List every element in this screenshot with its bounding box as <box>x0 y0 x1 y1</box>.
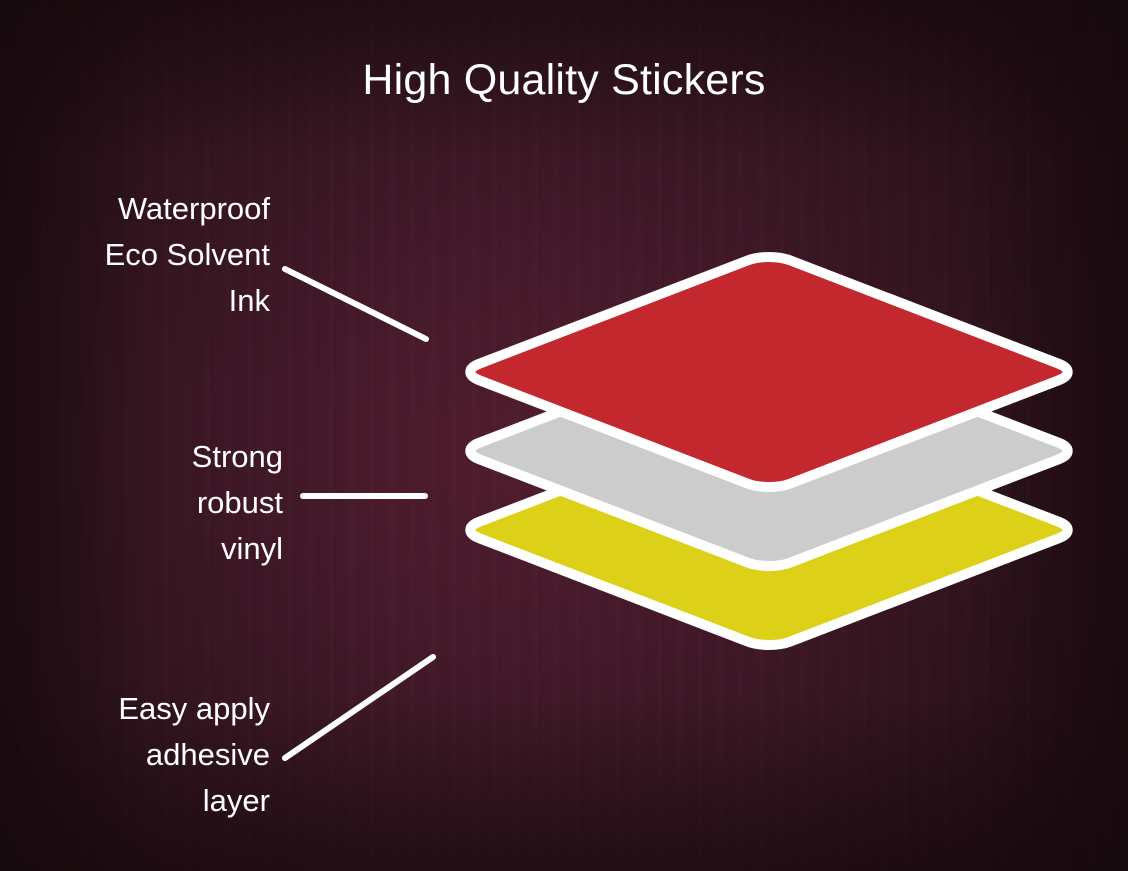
adhesive-leader-line <box>285 657 433 758</box>
ink-leader-line <box>285 269 426 339</box>
label-waterproof-eco-solvent-ink: Waterproof Eco Solvent Ink <box>105 186 270 324</box>
label-adhesive-line-3: layer <box>118 778 270 824</box>
label-vinyl-line-2: robust <box>192 480 283 526</box>
label-vinyl-line-1: Strong <box>192 434 283 480</box>
label-ink-line-2: Eco Solvent <box>105 232 270 278</box>
label-strong-robust-vinyl: Strong robust vinyl <box>192 434 283 572</box>
sticker-infographic: High Quality Stickers <box>0 0 1128 871</box>
label-adhesive-line-1: Easy apply <box>118 686 270 732</box>
label-adhesive-line-2: adhesive <box>118 732 270 778</box>
label-ink-line-3: Ink <box>105 278 270 324</box>
label-vinyl-line-3: vinyl <box>192 526 283 572</box>
label-easy-apply-adhesive-layer: Easy apply adhesive layer <box>118 686 270 824</box>
label-ink-line-1: Waterproof <box>105 186 270 232</box>
